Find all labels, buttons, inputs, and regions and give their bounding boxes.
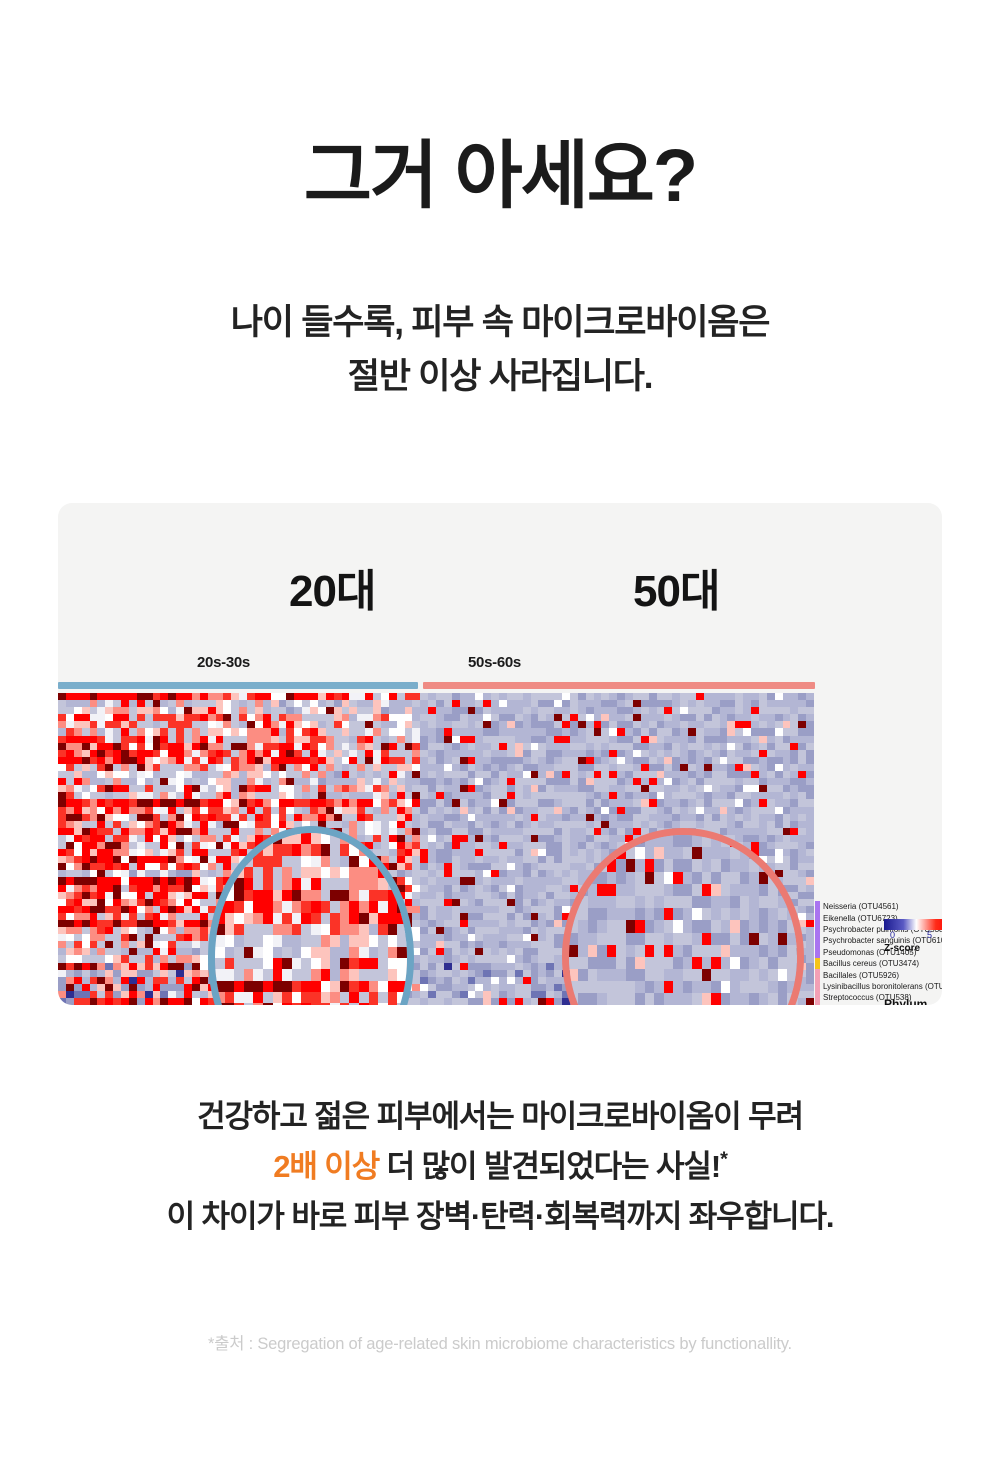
heatmap-row (58, 693, 815, 700)
species-row: Neisseria (OTU4561) (815, 901, 942, 912)
species-label: Bacillales (OTU5926) (820, 971, 899, 980)
species-label: Bacillus cereus (OTU3474) (820, 959, 919, 968)
heatmap-row (58, 700, 815, 707)
magnified-heatmap-young (215, 833, 407, 1005)
heatmap-row (58, 750, 815, 757)
magnified-row (215, 1003, 407, 1005)
magnified-row (569, 896, 797, 908)
magnified-row (215, 924, 407, 935)
page-title: 그거 아세요? (0, 137, 1000, 215)
magnified-row (569, 993, 797, 1005)
heatmap-figure: 20s-30s 50s-60s Neisseria (OTU4561)Eiken… (58, 669, 942, 1005)
magnified-row (215, 969, 407, 980)
magnified-row (215, 992, 407, 1003)
body-copy-line-3: 이 차이가 바로 피부 장벽·탄력·회복력까지 좌우합니다. (0, 1192, 1000, 1242)
magnified-row (569, 969, 797, 981)
species-row: Bacillales (OTU5926) (815, 969, 942, 980)
heatmap-row (58, 771, 815, 778)
species-row: Lysinibacillus boronitolerans (OTU18119) (815, 981, 942, 992)
magnified-row (215, 890, 407, 901)
heatmap-row (58, 764, 815, 771)
phylum-legend: Phylum BacteroidetesFirmicutesProteobact… (884, 997, 942, 1005)
zscore-colorbar (884, 919, 942, 930)
magnified-row (569, 981, 797, 993)
zscore-legend: 0 5 Z-score (884, 919, 942, 954)
zscore-ticks: 0 5 (884, 930, 942, 942)
magnified-row (215, 901, 407, 912)
heatmap-row (58, 707, 815, 714)
heatmap-row (58, 728, 815, 735)
subheadline-line-2: 절반 이상 사라집니다. (0, 350, 1000, 404)
zscore-tick-5: 5 (927, 930, 932, 940)
magnified-row (215, 867, 407, 878)
heatmap-row (58, 814, 815, 821)
age-label-50s: 50대 (633, 555, 719, 619)
phylum-legend-title: Phylum (884, 997, 942, 1005)
group-bar-young (58, 682, 418, 689)
magnified-row (569, 872, 797, 884)
heatmap-row (58, 821, 815, 828)
magnifier-circle-old (562, 828, 804, 1005)
magnified-row (215, 833, 407, 844)
species-label: Neisseria (OTU4561) (820, 902, 899, 911)
magnified-row (569, 920, 797, 932)
magnified-row (569, 908, 797, 920)
promo-page: 그거 아세요? 나이 들수록, 피부 속 마이크로바이옴은 절반 이상 사라집니… (0, 0, 1000, 1472)
body-copy-line-2: 2배 이상 더 많이 발견되었다는 사실!* (0, 1142, 1000, 1192)
heatmap-row (58, 792, 815, 799)
magnified-row (569, 945, 797, 957)
subheadline-line-1: 나이 들수록, 피부 속 마이크로바이옴은 (0, 296, 1000, 350)
magnified-row (569, 859, 797, 871)
magnified-row (215, 958, 407, 969)
zscore-caption: Z-score (884, 943, 942, 954)
magnified-row (569, 957, 797, 969)
heatmap-row (58, 807, 815, 814)
heatmap-row (58, 778, 815, 785)
group-label-young: 20s-30s (197, 654, 250, 671)
heatmap-row (58, 736, 815, 743)
magnified-row (215, 935, 407, 946)
heatmap-row (58, 799, 815, 806)
magnified-row (215, 878, 407, 889)
heatmap-row (58, 757, 815, 764)
highlight-2x: 2배 이상 (273, 1149, 379, 1184)
magnified-row (215, 856, 407, 867)
magnified-row (569, 884, 797, 896)
magnified-row (215, 947, 407, 958)
magnified-row (215, 844, 407, 855)
group-label-old: 50s-60s (468, 654, 521, 671)
heatmap-row (58, 721, 815, 728)
group-bar-old (423, 682, 815, 689)
heatmap-row (58, 743, 815, 750)
body-copy: 건강하고 젊은 피부에서는 마이크로바이옴이 무려 2배 이상 더 많이 발견되… (0, 1092, 1000, 1243)
magnified-row (215, 981, 407, 992)
heatmap-row (58, 785, 815, 792)
magnifier-circle-young (208, 826, 414, 1005)
magnified-row (569, 933, 797, 945)
body-copy-line-2-rest: 더 많이 발견되었다는 사실! (379, 1149, 720, 1184)
source-footnote: *출처 : Segregation of age-related skin mi… (0, 1330, 1000, 1354)
body-copy-line-1: 건강하고 젊은 피부에서는 마이크로바이옴이 무려 (0, 1092, 1000, 1142)
magnified-row (215, 913, 407, 924)
subheadline: 나이 들수록, 피부 속 마이크로바이옴은 절반 이상 사라집니다. (0, 296, 1000, 405)
species-row: Bacillus cereus (OTU3474) (815, 958, 942, 969)
magnified-row (569, 835, 797, 847)
footnote-marker: * (720, 1149, 727, 1171)
magnified-heatmap-old (569, 835, 797, 1005)
age-label-20s: 20대 (289, 555, 375, 619)
magnified-row (569, 847, 797, 859)
figure-card: 20대 50대 20s-30s 50s-60s Neisseria (OTU45… (58, 503, 942, 1005)
zscore-tick-0: 0 (890, 930, 895, 940)
species-label: Lysinibacillus boronitolerans (OTU18119) (820, 982, 942, 991)
heatmap-row (58, 714, 815, 721)
